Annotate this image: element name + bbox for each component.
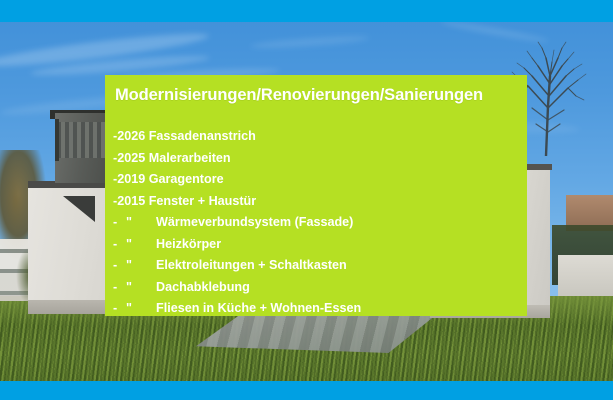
page-title: Modernisierungen/Renovierungen/Sanierung…: [115, 86, 483, 105]
renovation-list: -2026 Fassadenanstrich-2025 Malerarbeite…: [113, 126, 521, 320]
list-item-dash: -: [113, 255, 126, 277]
list-item-label: Wärmeverbundsystem (Fassade): [151, 212, 353, 234]
screenshot-stage: Modernisierungen/Renovierungen/Sanierung…: [0, 0, 613, 400]
list-item: -2019 Garagentore: [113, 169, 521, 191]
list-item-ditto-mark: ": [126, 277, 151, 299]
list-item-label: Fassadenanstrich: [145, 126, 256, 148]
roof-terrace-railing: [57, 122, 111, 158]
list-item-dash: -: [113, 234, 126, 256]
list-item-ditto-mark: ": [126, 298, 151, 320]
list-item-label: Malerarbeiten: [145, 148, 230, 170]
list-item: -2025 Malerarbeiten: [113, 148, 521, 170]
top-accent-bar: [0, 0, 613, 22]
list-item-ditto-mark: ": [126, 255, 151, 277]
list-item: -2015 Fenster + Haustür: [113, 191, 521, 213]
list-item: -"Elektroleitungen + Schaltkasten: [113, 255, 521, 277]
list-item: -"Dachabklebung: [113, 277, 521, 299]
list-item-year: -2025: [113, 148, 145, 170]
bottom-accent-bar: [0, 381, 613, 400]
list-item-label: Elektroleitungen + Schaltkasten: [151, 255, 347, 277]
list-item-dash: -: [113, 212, 126, 234]
list-item-label: Heizkörper: [151, 234, 221, 256]
list-item-dash: -: [113, 298, 126, 320]
railing-post: [55, 119, 59, 161]
list-item-ditto-mark: ": [126, 212, 151, 234]
list-item: -"Fliesen in Küche + Wohnen-Essen: [113, 298, 521, 320]
list-item: -"Wärmeverbundsystem (Fassade): [113, 212, 521, 234]
list-item-year: -2026: [113, 126, 145, 148]
list-item-year: -2019: [113, 169, 145, 191]
list-item-label: Fenster + Haustür: [145, 191, 256, 213]
list-item-label: Garagentore: [145, 169, 223, 191]
list-item: -2026 Fassadenanstrich: [113, 126, 521, 148]
list-item-label: Fliesen in Küche + Wohnen-Essen: [151, 298, 361, 320]
list-item: -"Heizkörper: [113, 234, 521, 256]
list-item-year: -2015: [113, 191, 145, 213]
list-item-ditto-mark: ": [126, 234, 151, 256]
list-item-dash: -: [113, 277, 126, 299]
info-overlay-panel: Modernisierungen/Renovierungen/Sanierung…: [105, 75, 527, 316]
list-item-label: Dachabklebung: [151, 277, 250, 299]
